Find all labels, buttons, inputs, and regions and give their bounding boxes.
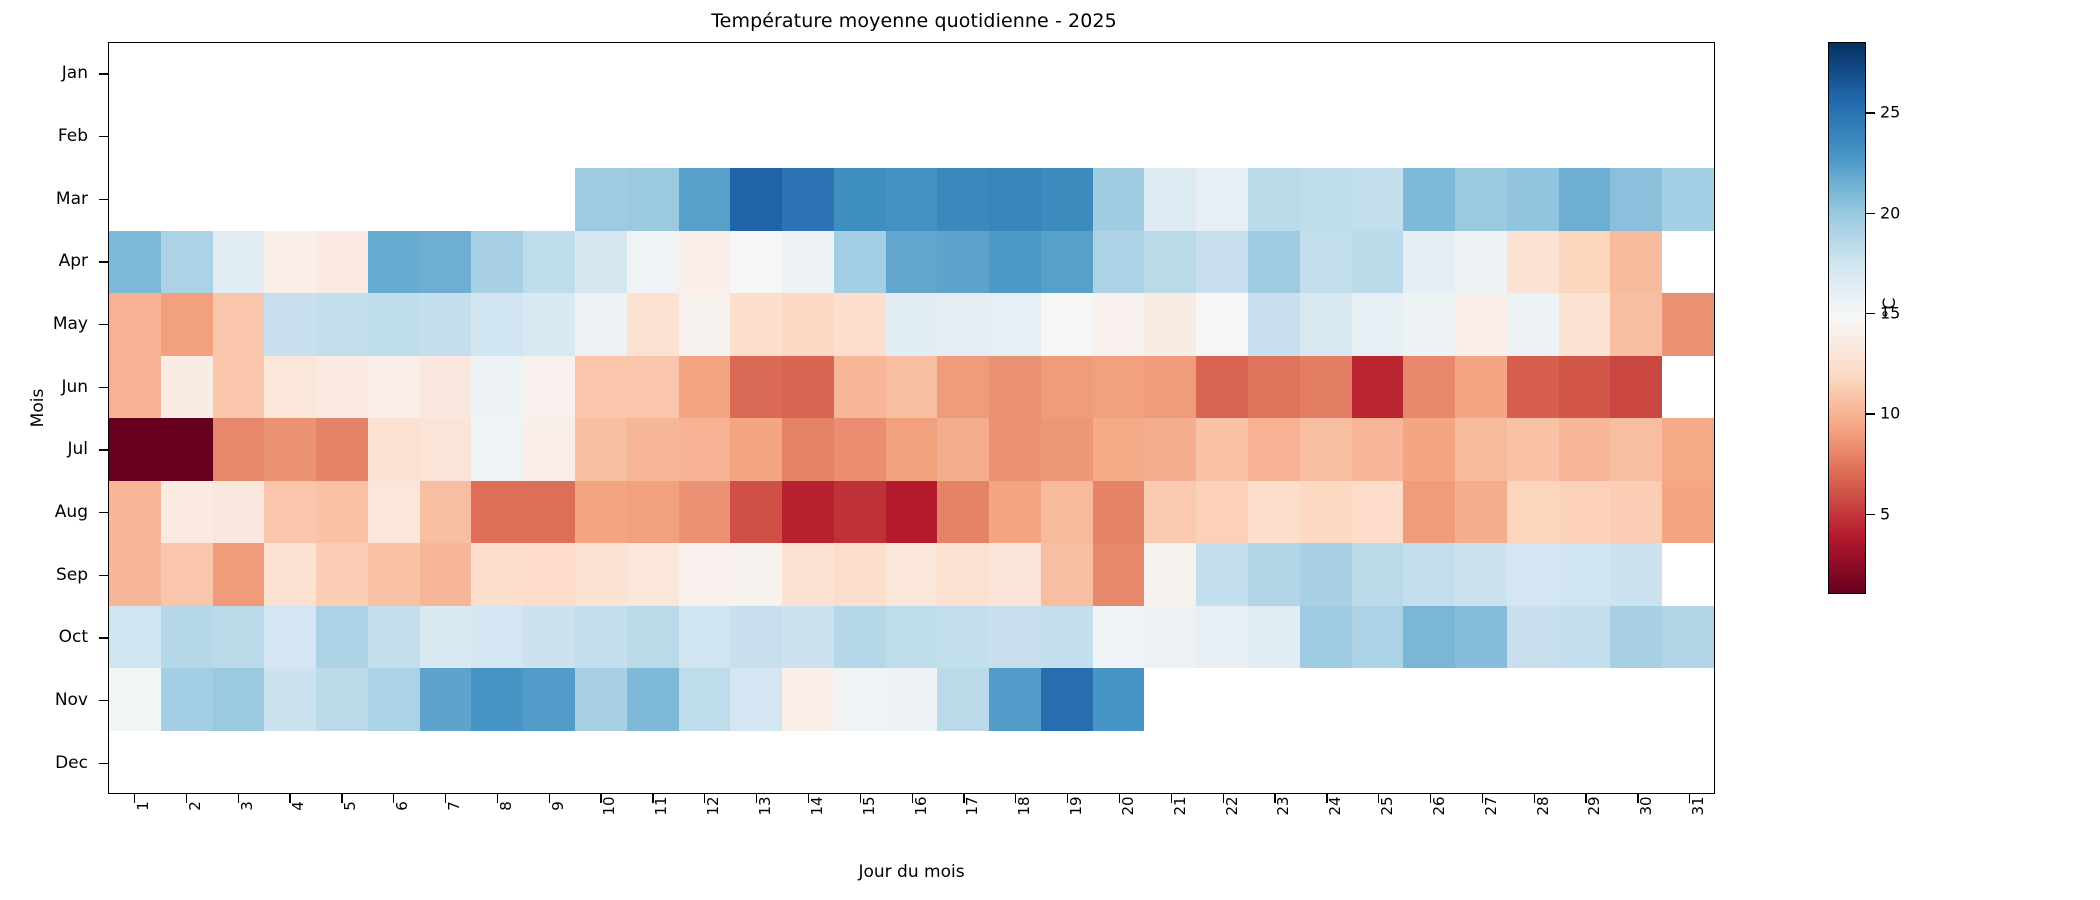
heatmap-cell <box>1144 231 1196 294</box>
heatmap-cell <box>834 43 886 106</box>
heatmap-cell <box>523 43 575 106</box>
heatmap-cell <box>368 293 420 356</box>
colorbar <box>1828 42 1866 594</box>
heatmap-cell <box>1507 293 1559 356</box>
heatmap-cell <box>679 731 731 794</box>
heatmap-cell <box>1403 731 1455 794</box>
heatmap-cell <box>1662 231 1714 294</box>
heatmap-cell <box>1144 543 1196 606</box>
heatmap-cell <box>730 481 782 544</box>
heatmap-cell <box>730 168 782 231</box>
heatmap-cell <box>213 168 265 231</box>
colorbar-ticks <box>1866 42 1876 594</box>
x-axis-tick-label: 9 <box>549 801 567 811</box>
heatmap-cell <box>264 356 316 419</box>
y-axis-tick-label: Apr <box>0 230 100 293</box>
heatmap-cell <box>575 543 627 606</box>
heatmap-cell <box>834 481 886 544</box>
heatmap-cell <box>730 293 782 356</box>
heatmap-cell <box>1559 418 1611 481</box>
heatmap-cell <box>471 293 523 356</box>
heatmap-cell <box>1144 293 1196 356</box>
heatmap-cell <box>1093 356 1145 419</box>
y-axis-tick-label: Jan <box>0 42 100 105</box>
heatmap-cell <box>1662 356 1714 419</box>
heatmap-cell <box>679 356 731 419</box>
heatmap-cell <box>1093 668 1145 731</box>
heatmap-cell <box>1662 43 1714 106</box>
heatmap-cell <box>471 543 523 606</box>
heatmap-cell <box>161 731 213 794</box>
heatmap-cell <box>1610 606 1662 669</box>
heatmap-plot-area <box>108 42 1715 794</box>
heatmap-cell <box>1610 356 1662 419</box>
heatmap-cell <box>316 231 368 294</box>
heatmap-cell <box>471 231 523 294</box>
heatmap-cell <box>420 668 472 731</box>
x-axis-tick-labels: 1234567891011121314151617181920212223242… <box>108 806 1715 866</box>
heatmap-cell <box>1041 231 1093 294</box>
x-axis-tick-label: 16 <box>912 796 930 815</box>
y-axis-tick-label: Oct <box>0 606 100 669</box>
x-axis-tick-label: 6 <box>393 801 411 811</box>
heatmap-cell <box>886 43 938 106</box>
heatmap-cell <box>161 481 213 544</box>
heatmap-cell <box>161 606 213 669</box>
heatmap-cell <box>1196 668 1248 731</box>
heatmap-cell <box>1352 356 1404 419</box>
heatmap-cell <box>264 606 316 669</box>
heatmap-cell <box>627 668 679 731</box>
heatmap-cell <box>834 606 886 669</box>
heatmap-cell <box>627 43 679 106</box>
x-axis-tick-label: 7 <box>445 801 463 811</box>
x-axis-tick-label: 28 <box>1534 796 1552 815</box>
x-axis-tick-label: 23 <box>1274 796 1292 815</box>
heatmap-cell <box>989 668 1041 731</box>
heatmap-cell <box>213 356 265 419</box>
heatmap-cell <box>1455 606 1507 669</box>
x-axis-tick-label: 25 <box>1378 796 1396 815</box>
heatmap-cell <box>213 418 265 481</box>
heatmap-cell <box>523 106 575 169</box>
heatmap-cell <box>937 231 989 294</box>
heatmap-cell <box>782 606 834 669</box>
heatmap-cell <box>575 668 627 731</box>
heatmap-cell <box>161 293 213 356</box>
heatmap-cell <box>1196 293 1248 356</box>
heatmap-cell <box>989 418 1041 481</box>
y-axis-tick <box>99 449 108 450</box>
heatmap-cell <box>161 418 213 481</box>
heatmap-cell <box>1507 168 1559 231</box>
x-axis-tick-label: 8 <box>497 801 515 811</box>
heatmap-cell <box>834 731 886 794</box>
colorbar-tick-label: 25 <box>1880 103 1900 122</box>
heatmap-cell <box>989 606 1041 669</box>
x-axis-tick-label: 3 <box>238 801 256 811</box>
heatmap-cell <box>523 668 575 731</box>
heatmap-cell <box>575 606 627 669</box>
heatmap-cell <box>368 668 420 731</box>
heatmap-cell <box>1300 481 1352 544</box>
heatmap-cell <box>471 168 523 231</box>
heatmap-cell <box>1144 356 1196 419</box>
heatmap-cell <box>730 418 782 481</box>
heatmap-cell <box>368 543 420 606</box>
heatmap-cell <box>420 418 472 481</box>
heatmap-cell <box>1300 293 1352 356</box>
heatmap-cell <box>368 231 420 294</box>
heatmap-cell <box>782 481 834 544</box>
heatmap-cell <box>213 543 265 606</box>
heatmap-cell <box>1300 43 1352 106</box>
heatmap-cell <box>264 418 316 481</box>
heatmap-cell <box>834 231 886 294</box>
heatmap-cell <box>523 168 575 231</box>
x-axis-tick-label: 14 <box>808 796 826 815</box>
heatmap-cell <box>109 606 161 669</box>
heatmap-cell <box>1196 731 1248 794</box>
heatmap-cell <box>1041 481 1093 544</box>
y-axis-tick-label: Sep <box>0 543 100 606</box>
heatmap-cell <box>109 418 161 481</box>
heatmap-cell <box>730 106 782 169</box>
heatmap-cell <box>782 731 834 794</box>
heatmap-cell <box>1144 481 1196 544</box>
heatmap-cell <box>1352 606 1404 669</box>
heatmap-cell <box>1352 668 1404 731</box>
heatmap-cell <box>886 481 938 544</box>
x-axis-tick-label: 12 <box>704 796 722 815</box>
heatmap-cell <box>1610 543 1662 606</box>
heatmap-cell <box>523 418 575 481</box>
heatmap-cell <box>1352 168 1404 231</box>
heatmap-cell <box>1041 543 1093 606</box>
heatmap-cell <box>109 543 161 606</box>
heatmap-cell <box>679 606 731 669</box>
y-axis-tick <box>99 700 108 701</box>
heatmap-cell <box>1352 481 1404 544</box>
colorbar-tick-label: 20 <box>1880 203 1900 222</box>
heatmap-cell <box>1403 481 1455 544</box>
heatmap-cell <box>1610 168 1662 231</box>
heatmap-cell <box>1559 481 1611 544</box>
x-axis-tick-label: 31 <box>1689 796 1707 815</box>
chart-title: Température moyenne quotidienne - 2025 <box>108 10 1720 32</box>
heatmap-cell <box>627 731 679 794</box>
heatmap-cell <box>730 731 782 794</box>
heatmap-cell <box>420 481 472 544</box>
y-axis-tick <box>99 763 108 764</box>
heatmap-cell <box>1507 43 1559 106</box>
heatmap-cell <box>1559 731 1611 794</box>
heatmap-cell <box>471 481 523 544</box>
heatmap-cell <box>1041 293 1093 356</box>
heatmap-cell <box>1403 168 1455 231</box>
heatmap-cell <box>937 543 989 606</box>
heatmap-cell <box>161 168 213 231</box>
heatmap-cell <box>1455 106 1507 169</box>
heatmap-cell <box>213 43 265 106</box>
heatmap-cell <box>782 418 834 481</box>
heatmap-cell <box>937 668 989 731</box>
heatmap-cell <box>1041 668 1093 731</box>
heatmap-cell <box>264 543 316 606</box>
heatmap-cell <box>730 543 782 606</box>
y-axis-tick-labels: JanFebMarAprMayJunJulAugSepOctNovDec <box>0 42 100 794</box>
y-axis-tick-label: Jun <box>0 355 100 418</box>
heatmap-cell <box>264 293 316 356</box>
heatmap-cell <box>1403 668 1455 731</box>
heatmap-cell <box>1507 668 1559 731</box>
heatmap-cell <box>679 106 731 169</box>
heatmap-cell <box>1352 543 1404 606</box>
y-axis-tick <box>99 512 108 513</box>
heatmap-cell <box>316 293 368 356</box>
x-axis-tick-label: 1 <box>134 801 152 811</box>
heatmap-cell <box>1041 606 1093 669</box>
heatmap-cell <box>1559 606 1611 669</box>
heatmap-cell <box>1403 43 1455 106</box>
heatmap-cell <box>1507 731 1559 794</box>
heatmap-cell <box>161 231 213 294</box>
heatmap-cell <box>989 543 1041 606</box>
heatmap-cell <box>368 106 420 169</box>
heatmap-cell <box>213 668 265 731</box>
x-axis-tick-label: 29 <box>1585 796 1603 815</box>
heatmap-cell <box>1144 106 1196 169</box>
heatmap-cell <box>264 168 316 231</box>
heatmap-cell <box>989 481 1041 544</box>
x-axis-tick-label: 30 <box>1637 796 1655 815</box>
heatmap-cell <box>782 543 834 606</box>
heatmap-cell <box>1300 543 1352 606</box>
heatmap-cell <box>1196 606 1248 669</box>
y-axis-tick <box>99 199 108 200</box>
heatmap-cell <box>420 543 472 606</box>
heatmap-cell <box>368 418 420 481</box>
heatmap-cell <box>1248 481 1300 544</box>
heatmap-cell <box>316 543 368 606</box>
heatmap-cell <box>1041 418 1093 481</box>
heatmap-cell <box>679 543 731 606</box>
y-axis-tick-label: Jul <box>0 418 100 481</box>
heatmap-cell <box>1300 356 1352 419</box>
heatmap-cell <box>1610 293 1662 356</box>
heatmap-cell <box>679 231 731 294</box>
heatmap-cell <box>1455 731 1507 794</box>
heatmap-cell <box>316 418 368 481</box>
heatmap-cell <box>316 481 368 544</box>
y-axis-tick-label: Mar <box>0 167 100 230</box>
heatmap-cell <box>420 731 472 794</box>
heatmap-cell <box>1248 543 1300 606</box>
x-axis-tick-label: 13 <box>756 796 774 815</box>
heatmap-cell <box>1248 293 1300 356</box>
heatmap-figure: Température moyenne quotidienne - 2025 M… <box>0 0 2100 900</box>
heatmap-cell <box>1196 418 1248 481</box>
heatmap-cell <box>627 293 679 356</box>
heatmap-cell <box>1093 731 1145 794</box>
heatmap-cell <box>575 356 627 419</box>
heatmap-cell <box>109 481 161 544</box>
heatmap-cell <box>368 481 420 544</box>
heatmap-cell <box>1403 418 1455 481</box>
heatmap-cell <box>523 293 575 356</box>
heatmap-cell <box>834 668 886 731</box>
heatmap-cell <box>989 168 1041 231</box>
heatmap-cell <box>1144 168 1196 231</box>
heatmap-cell <box>316 106 368 169</box>
heatmap-cell <box>627 231 679 294</box>
heatmap-cell <box>1559 231 1611 294</box>
heatmap-cell <box>1248 106 1300 169</box>
heatmap-cell <box>1662 731 1714 794</box>
heatmap-cell <box>1455 293 1507 356</box>
heatmap-cell <box>161 43 213 106</box>
heatmap-cell <box>782 168 834 231</box>
heatmap-cell <box>1455 231 1507 294</box>
heatmap-cell <box>782 668 834 731</box>
heatmap-cell <box>937 106 989 169</box>
heatmap-cell <box>782 43 834 106</box>
heatmap-cell <box>109 668 161 731</box>
heatmap-cell <box>1662 168 1714 231</box>
heatmap-cell <box>1041 356 1093 419</box>
heatmap-cell <box>1507 543 1559 606</box>
heatmap-cell <box>834 106 886 169</box>
heatmap-cell <box>1559 543 1611 606</box>
heatmap-cell <box>316 731 368 794</box>
heatmap-cell <box>627 543 679 606</box>
heatmap-cell <box>782 231 834 294</box>
heatmap-cell <box>1403 231 1455 294</box>
heatmap-cell <box>264 106 316 169</box>
heatmap-cell <box>420 293 472 356</box>
heatmap-cell <box>989 106 1041 169</box>
x-axis-tick-label: 4 <box>289 801 307 811</box>
heatmap-cell <box>1248 43 1300 106</box>
heatmap-cell <box>1507 356 1559 419</box>
heatmap-cell <box>1093 231 1145 294</box>
heatmap-cell <box>1093 168 1145 231</box>
heatmap-cell <box>1041 731 1093 794</box>
heatmap-cell <box>1662 668 1714 731</box>
heatmap-cell <box>523 231 575 294</box>
heatmap-cell <box>989 731 1041 794</box>
heatmap-cell <box>679 43 731 106</box>
heatmap-cell <box>420 606 472 669</box>
heatmap-cell <box>1196 231 1248 294</box>
colorbar-tick-label: 5 <box>1880 504 1890 523</box>
x-axis-tick-label: 20 <box>1119 796 1137 815</box>
heatmap-cell <box>213 606 265 669</box>
heatmap-cell <box>1093 106 1145 169</box>
heatmap-cell <box>627 106 679 169</box>
heatmap-cell <box>1610 731 1662 794</box>
heatmap-cell <box>1403 356 1455 419</box>
x-axis-tick-label: 21 <box>1171 796 1189 815</box>
heatmap-cell <box>1403 293 1455 356</box>
heatmap-cell <box>1196 481 1248 544</box>
heatmap-cell <box>1093 606 1145 669</box>
heatmap-cell <box>1144 606 1196 669</box>
x-axis-title: Jour du mois <box>108 862 1715 882</box>
heatmap-cell <box>937 356 989 419</box>
heatmap-cell <box>1455 543 1507 606</box>
heatmap-cell <box>937 606 989 669</box>
heatmap-cell <box>1559 106 1611 169</box>
heatmap-cell <box>1610 43 1662 106</box>
heatmap-cell <box>1093 293 1145 356</box>
heatmap-cell <box>989 43 1041 106</box>
heatmap-cell <box>834 293 886 356</box>
colorbar-tick <box>1866 213 1875 214</box>
heatmap-cell <box>109 293 161 356</box>
heatmap-cell <box>782 293 834 356</box>
heatmap-cell <box>1559 168 1611 231</box>
y-axis-tick-label: Nov <box>0 669 100 732</box>
heatmap-cell <box>471 731 523 794</box>
heatmap-cell <box>109 43 161 106</box>
y-axis-tick-label: Aug <box>0 481 100 544</box>
x-axis-tick-label: 18 <box>1015 796 1033 815</box>
heatmap-cell <box>730 606 782 669</box>
heatmap-cell <box>1662 418 1714 481</box>
heatmap-cell <box>316 168 368 231</box>
heatmap-cell <box>679 481 731 544</box>
heatmap-cell <box>1455 481 1507 544</box>
heatmap-cell <box>109 106 161 169</box>
heatmap-cell <box>782 106 834 169</box>
heatmap-cell <box>420 231 472 294</box>
heatmap-cell <box>1248 168 1300 231</box>
heatmap-cell <box>575 168 627 231</box>
heatmap-cell <box>1403 543 1455 606</box>
heatmap-cell <box>1300 168 1352 231</box>
heatmap-cell <box>420 168 472 231</box>
heatmap-cell <box>109 168 161 231</box>
heatmap-cell <box>109 231 161 294</box>
y-axis-tick-label: Dec <box>0 731 100 794</box>
heatmap-cell <box>1300 606 1352 669</box>
heatmap-cell <box>316 356 368 419</box>
y-axis-tick <box>99 387 108 388</box>
heatmap-cell <box>1248 356 1300 419</box>
heatmap-cell <box>213 731 265 794</box>
x-axis-tick-label: 11 <box>652 796 670 815</box>
heatmap-cell <box>886 106 938 169</box>
heatmap-cell <box>1507 106 1559 169</box>
heatmap-cell <box>1662 293 1714 356</box>
heatmap-cell <box>1144 43 1196 106</box>
heatmap-cell <box>1610 481 1662 544</box>
heatmap-cell <box>264 731 316 794</box>
heatmap-cell <box>368 168 420 231</box>
heatmap-cell <box>1352 418 1404 481</box>
heatmap-cell <box>1455 356 1507 419</box>
heatmap-cell <box>1507 606 1559 669</box>
heatmap-cell <box>1662 106 1714 169</box>
heatmap-cell <box>679 293 731 356</box>
heatmap-cell <box>523 481 575 544</box>
heatmap-cell <box>1196 106 1248 169</box>
heatmap-cell <box>886 293 938 356</box>
heatmap-cell <box>1300 231 1352 294</box>
heatmap-cell <box>471 418 523 481</box>
heatmap-cell <box>1610 668 1662 731</box>
